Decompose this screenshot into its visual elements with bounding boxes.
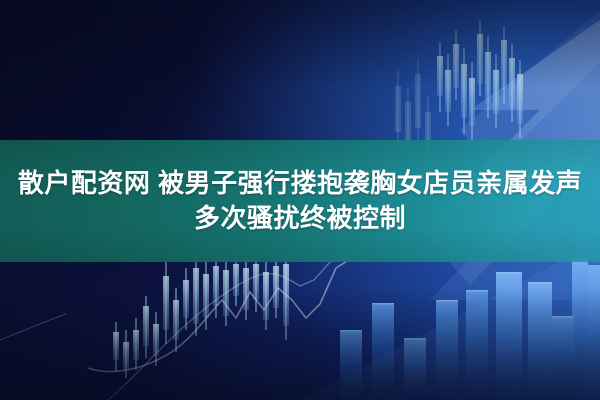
thumbnail-image: 散户配资网 被男子强行搂抱袭胸女店员亲属发声 多次骚扰终被控制 — [0, 0, 600, 400]
headline-line-1: 散户配资网 被男子强行搂抱袭胸女店员亲属发声 — [18, 169, 582, 198]
headline-line-2: 多次骚扰终被控制 — [194, 204, 406, 233]
headline-block: 散户配资网 被男子强行搂抱袭胸女店员亲属发声 多次骚扰终被控制 — [0, 140, 600, 262]
